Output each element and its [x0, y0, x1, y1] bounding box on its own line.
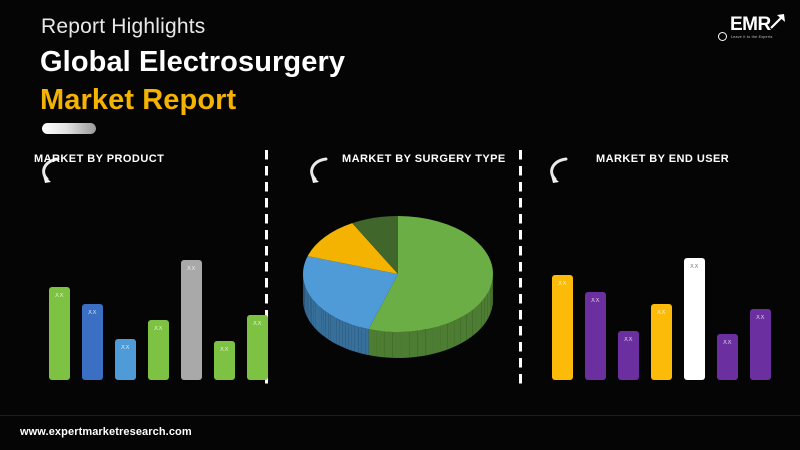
logo-wordmark: EMR: [730, 14, 771, 36]
pie-slice-side: [385, 331, 393, 357]
pie-slice-side: [409, 331, 417, 358]
pie-slice-side: [304, 281, 305, 309]
pie-slice-side: [362, 328, 365, 355]
pie-slice-side: [334, 317, 337, 345]
pie-slice-side: [461, 314, 467, 343]
pie-slice-side: [440, 323, 447, 351]
pie-slice-side: [358, 327, 361, 354]
bar-1: XX: [49, 287, 70, 380]
panel-market-by-surgery-type: MARKET BY SURGERY TYPE: [276, 148, 512, 388]
logo-circle-icon: [718, 32, 727, 41]
pie-slice-side: [321, 308, 323, 336]
eyebrow-text: Report Highlights: [41, 15, 205, 39]
bar-value-label: XX: [82, 310, 103, 316]
pie-slice-side: [307, 290, 308, 318]
pie-slice-side: [454, 318, 460, 347]
bar-6: XX: [214, 341, 235, 380]
pie-slice-side: [336, 318, 339, 345]
footer-divider: [0, 415, 800, 416]
pie-slice-side: [310, 296, 311, 324]
pie-svg: [276, 188, 512, 368]
bar-7: XX: [750, 309, 771, 380]
panel-market-by-product: MARKET BY PRODUCT XXXXXXXXXXXXXX: [14, 148, 262, 388]
pie-slice-side: [490, 283, 492, 314]
pie-slice-side: [305, 285, 306, 313]
curved-arrow-icon: [306, 156, 334, 186]
pie-slice-side: [331, 315, 334, 343]
bar-7: XX: [247, 315, 268, 380]
pie-slice-side: [481, 297, 485, 327]
bar-2: XX: [82, 304, 103, 380]
pie-slice-side: [488, 288, 490, 319]
bar-value-label: XX: [49, 293, 70, 299]
pie-slice-side: [342, 321, 345, 348]
emr-logo: EMR Leave it to the Experts: [712, 10, 790, 50]
bar-value-label: XX: [585, 298, 606, 304]
title-accent-pill: [42, 123, 96, 134]
bar-2: XX: [585, 292, 606, 380]
bar-1: XX: [552, 275, 573, 380]
bar-value-label: XX: [148, 326, 169, 332]
pie-slice-side: [339, 320, 342, 347]
logo-tagline: Leave it to the Experts: [731, 35, 773, 39]
bar-value-label: XX: [651, 310, 672, 316]
panel-market-by-end-user: MARKET BY END USER XXXXXXXXXXXXXX: [530, 148, 788, 388]
bar-value-label: XX: [552, 281, 573, 287]
bar-chart-market-by-end-user: XXXXXXXXXXXXXX: [530, 148, 788, 388]
bar-value-label: XX: [181, 266, 202, 272]
pie-slice-side: [393, 332, 401, 358]
bar-value-label: XX: [717, 340, 738, 346]
bar-4: XX: [651, 304, 672, 380]
pie-slice-side: [477, 302, 481, 332]
pie-slice-side: [448, 321, 455, 350]
bar-value-label: XX: [247, 321, 268, 327]
bar-value-label: XX: [618, 337, 639, 343]
pie-slice-side: [319, 306, 321, 334]
pie-slice-side: [417, 330, 425, 357]
pie-slice-side: [467, 310, 472, 340]
pie-slice-side: [304, 283, 305, 311]
pie-slice-side: [309, 294, 310, 322]
pie-slice-side: [312, 298, 314, 326]
bar-3: XX: [115, 339, 136, 380]
pie-slice-side: [323, 310, 325, 338]
pie-slice-side: [377, 331, 385, 358]
page-title-line1: Global Electrosurgery: [40, 46, 345, 79]
bar-6: XX: [717, 334, 738, 380]
pie-slice-side: [348, 323, 351, 350]
report-highlights-slide: Report Highlights Global Electrosurgery …: [0, 0, 800, 450]
pie-slice-side: [369, 329, 377, 356]
pie-slice-side: [326, 312, 328, 340]
panel-divider-2: [519, 150, 522, 386]
pie-slice-side: [355, 326, 358, 353]
bar-5: XX: [684, 258, 705, 380]
pie-slice-side: [345, 322, 348, 349]
bar-5: XX: [181, 260, 202, 380]
bar-4: XX: [148, 320, 169, 380]
pie-slice-side: [328, 313, 331, 341]
pie-slice-side: [317, 304, 319, 332]
pie-slice-side: [313, 300, 315, 328]
bar-value-label: XX: [214, 347, 235, 353]
bar-value-label: XX: [684, 264, 705, 270]
panel-title: MARKET BY SURGERY TYPE: [342, 153, 506, 165]
pie-slice-side: [472, 306, 477, 336]
growth-arrow-icon: [768, 11, 788, 31]
pie-slice-side: [308, 292, 309, 320]
pie-slice-side: [492, 278, 493, 309]
pie-chart-market-by-surgery-type: [276, 188, 512, 378]
pie-slice-side: [315, 302, 317, 330]
page-title-line2: Market Report: [40, 84, 236, 117]
pie-slice-side: [306, 288, 307, 316]
bar-value-label: XX: [750, 315, 771, 321]
bar-chart-market-by-product: XXXXXXXXXXXXXX: [14, 148, 262, 388]
bar-value-label: XX: [115, 345, 136, 351]
pie-slice-side: [352, 325, 355, 352]
bar-3: XX: [618, 331, 639, 380]
pie-slice-side: [401, 332, 409, 358]
pie-slice-side: [425, 328, 433, 356]
footer-website: www.expertmarketresearch.com: [20, 426, 192, 438]
pie-slice-side: [365, 328, 369, 355]
pie-slice-side: [433, 326, 440, 354]
pie-slice-side: [485, 293, 488, 324]
